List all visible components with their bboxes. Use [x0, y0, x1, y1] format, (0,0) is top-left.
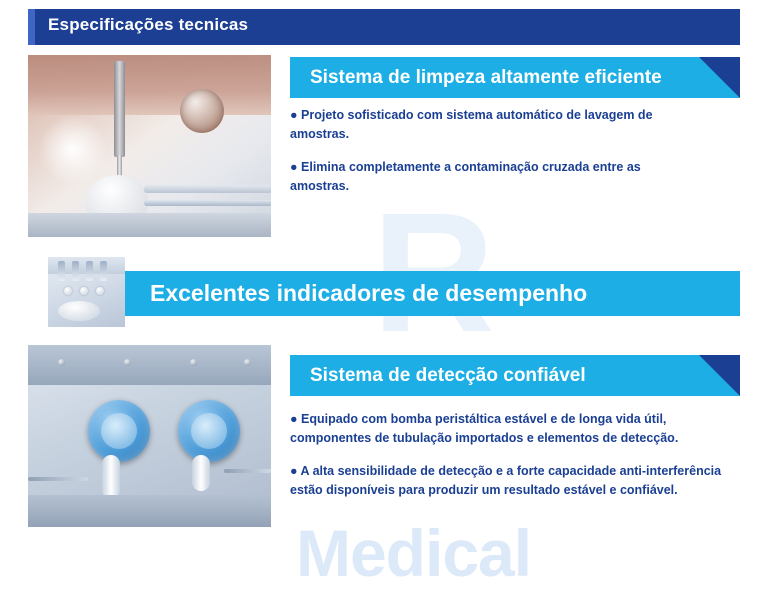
- instrument-panel: [28, 345, 271, 385]
- banner-cleaning: Sistema de limpeza altamente eficiente: [290, 57, 740, 98]
- banner-corner-triangle: [699, 57, 740, 98]
- header-accent-stripe: [28, 9, 35, 45]
- tubing-right: [192, 455, 210, 491]
- panel-screw: [124, 359, 131, 366]
- peristaltic-pump-photo: [28, 345, 271, 527]
- bullet-item: ● Elimina completamente a contaminação c…: [290, 158, 690, 197]
- pump-head-left: [88, 400, 150, 462]
- bullet-item: ● Projeto sofisticado com sistema automá…: [290, 106, 690, 145]
- tray-well: [64, 287, 72, 295]
- tray-slot: [58, 261, 65, 281]
- tray-well: [80, 287, 88, 295]
- guide-rail-lower: [144, 200, 271, 206]
- tray-pan: [58, 301, 100, 321]
- pump-head-right: [178, 400, 240, 462]
- panel-screw: [244, 359, 251, 366]
- tray-slot: [100, 261, 107, 281]
- wiring: [28, 477, 88, 481]
- banner-detection-label: Sistema de detecção confiável: [310, 365, 586, 387]
- base-plate: [28, 213, 271, 237]
- tray-slot: [72, 261, 79, 281]
- banner-cleaning-label: Sistema de limpeza altamente eficiente: [310, 67, 662, 89]
- bullets-cleaning: ● Projeto sofisticado com sistema automá…: [290, 106, 690, 210]
- sample-tray-photo: [48, 257, 125, 327]
- banner-detection: Sistema de detecção confiável: [290, 355, 740, 396]
- wash-ring: [180, 89, 224, 133]
- spec-page: Especificações tecnicas Sistema de limpe…: [0, 0, 768, 565]
- tray-well: [96, 287, 104, 295]
- bullet-item: ● Equipado com bomba peristáltica estáve…: [290, 410, 726, 449]
- tray-slot: [86, 261, 93, 281]
- bullet-item: ● A alta sensibilidade de detecção e a f…: [290, 462, 726, 501]
- wash-station-photo: [28, 55, 271, 237]
- panel-screw: [58, 359, 65, 366]
- photo-bg-upper: [28, 55, 271, 115]
- banner-performance: Excelentes indicadores de desempenho: [88, 271, 740, 316]
- tubing-left: [102, 455, 120, 499]
- bullets-detection: ● Equipado com bomba peristáltica estáve…: [290, 410, 726, 514]
- panel-screw: [190, 359, 197, 366]
- probe-shaft: [114, 61, 125, 157]
- banner-performance-label: Excelentes indicadores de desempenho: [150, 280, 587, 307]
- guide-rail-upper: [144, 185, 271, 193]
- wiring: [224, 469, 271, 473]
- banner-corner-triangle: [699, 355, 740, 396]
- photo-glare: [38, 115, 108, 185]
- instrument-base: [28, 495, 271, 527]
- page-title: Especificações tecnicas: [48, 15, 248, 35]
